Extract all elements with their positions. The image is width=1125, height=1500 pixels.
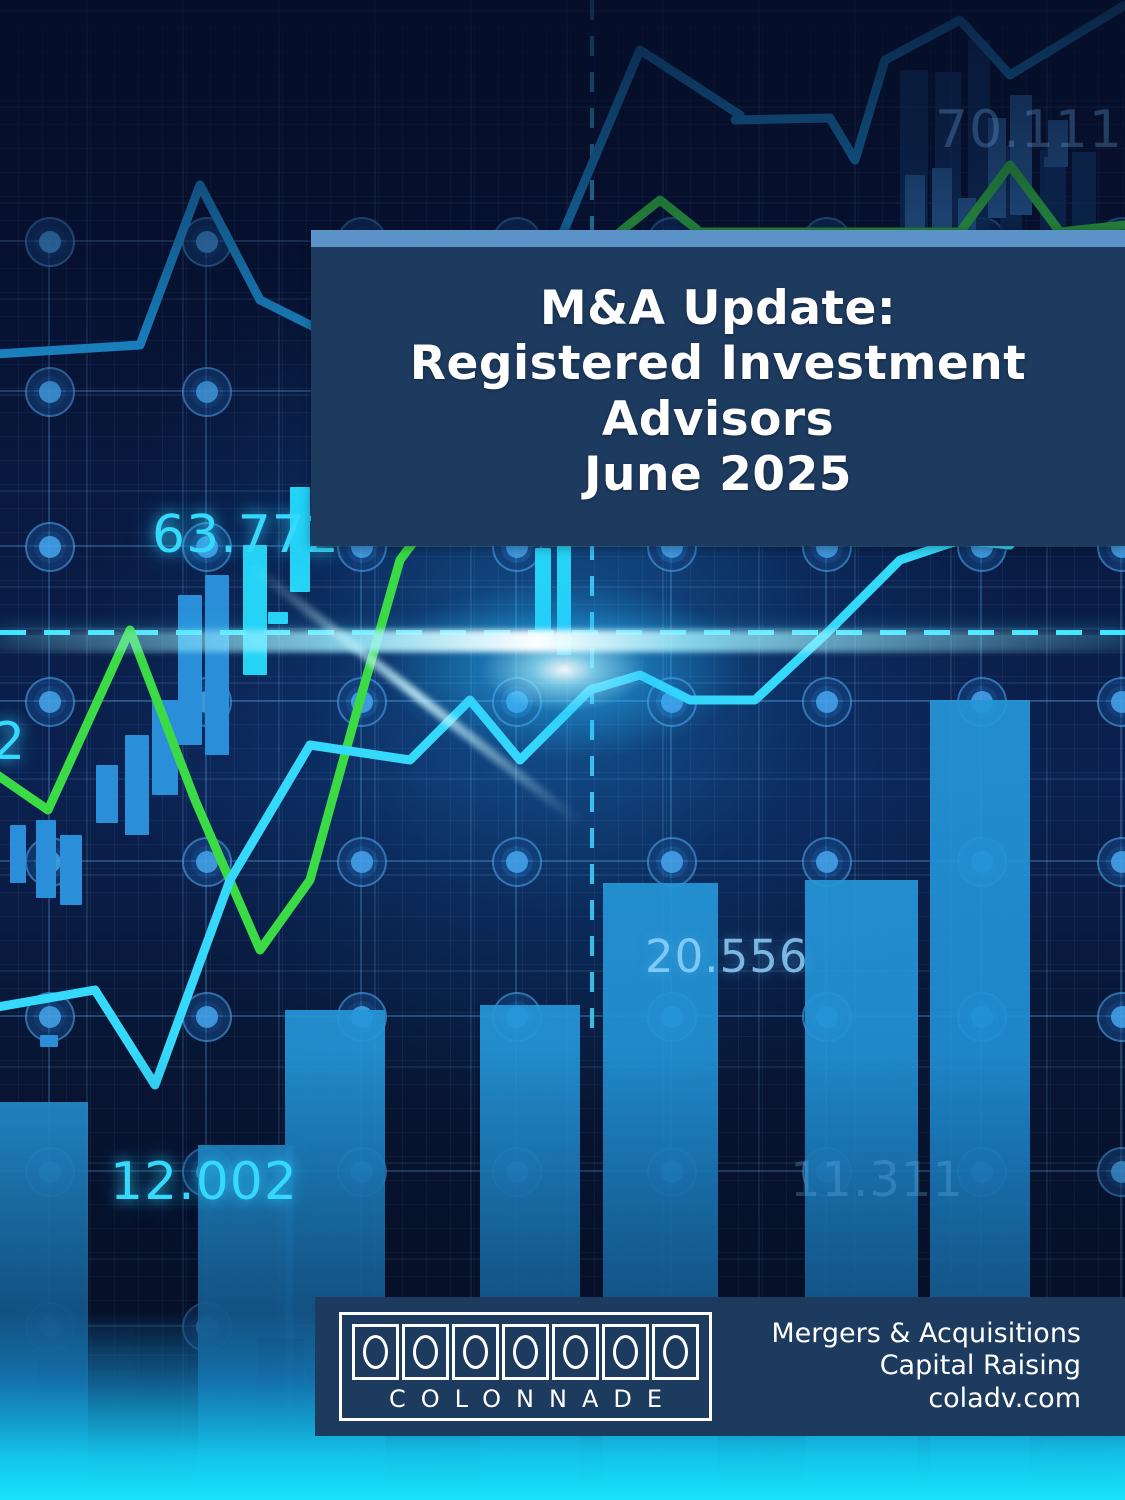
chart-value-label: 11.311 [790,1152,964,1208]
page-title-line-3: Advisors [602,392,834,447]
page-title-line-1: M&A Update: [540,281,896,336]
logo-column-circle-icon [463,1335,488,1369]
logo-column-circle-icon [513,1335,538,1369]
logo-column-circle-icon [613,1335,638,1369]
tagline-services: Mergers & Acquisitions [742,1318,1081,1350]
vignette-overlay [0,0,1125,1500]
logo-column-circle-icon [663,1335,688,1369]
logo-column-5 [552,1324,599,1380]
logo-column-3 [452,1324,499,1380]
footer-card: COLONNADE Mergers & Acquisitions Capital… [315,1297,1125,1436]
logo-column-circle-icon [563,1335,588,1369]
chart-value-label: 2 [0,712,26,772]
tagline-capital-raising: Capital Raising [742,1350,1081,1382]
page-title-line-4: June 2025 [584,447,852,502]
colonnade-logo: COLONNADE [339,1312,712,1421]
website-url[interactable]: coladv.com [742,1383,1081,1415]
logo-column-1 [352,1324,399,1380]
chart-value-label: 70.111 [935,100,1123,160]
chart-value-label: 20.556 [645,930,808,983]
logo-wordmark: COLONNADE [352,1387,699,1411]
footer-taglines: Mergers & Acquisitions Capital Raising c… [742,1318,1081,1415]
cover-page: 70.11163.772220.55612.00211.311 M&A Upda… [0,0,1125,1500]
logo-column-circle-icon [413,1335,438,1369]
title-card-accent-bar [311,230,1125,247]
title-card: M&A Update: Registered Investment Adviso… [311,230,1125,546]
logo-column-2 [402,1324,449,1380]
logo-column-7 [652,1324,699,1380]
logo-column-row [352,1324,699,1380]
title-card-body: M&A Update: Registered Investment Adviso… [311,247,1125,546]
page-title-line-2: Registered Investment [410,336,1026,391]
logo-column-circle-icon [363,1335,388,1369]
logo-column-4 [502,1324,549,1380]
chart-value-label: 12.002 [110,1152,298,1212]
logo-column-6 [602,1324,649,1380]
